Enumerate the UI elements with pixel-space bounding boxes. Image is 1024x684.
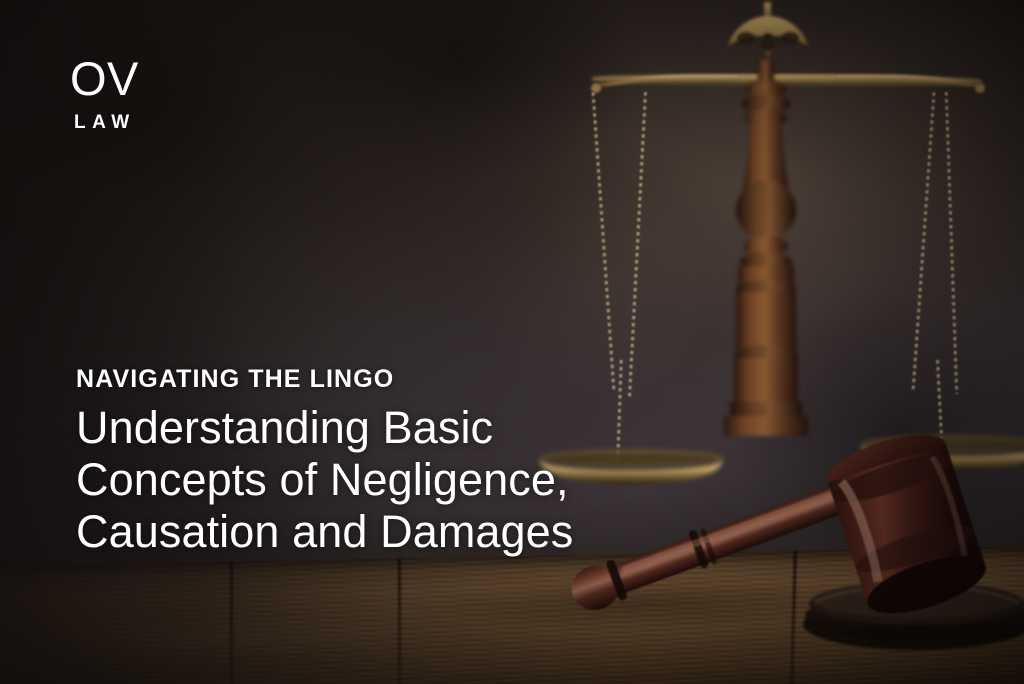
headline-block: NAVIGATING THE LINGO Understanding Basic… <box>76 366 676 558</box>
hero-banner: OV LAW NAVIGATING THE LINGO Understandin… <box>0 0 1024 684</box>
headline-line: Concepts of Negligence, <box>76 454 676 506</box>
ov-law-logo[interactable]: OV LAW <box>70 55 139 132</box>
text-overlay: OV LAW NAVIGATING THE LINGO Understandin… <box>0 0 1024 684</box>
page-title: Understanding Basic Concepts of Negligen… <box>76 402 676 558</box>
logo-wordmark: LAW <box>74 113 139 132</box>
logo-mark: OV <box>70 55 139 102</box>
headline-line: Understanding Basic <box>76 402 676 454</box>
headline-line: Causation and Damages <box>76 506 676 558</box>
headline-eyebrow: NAVIGATING THE LINGO <box>76 366 676 394</box>
